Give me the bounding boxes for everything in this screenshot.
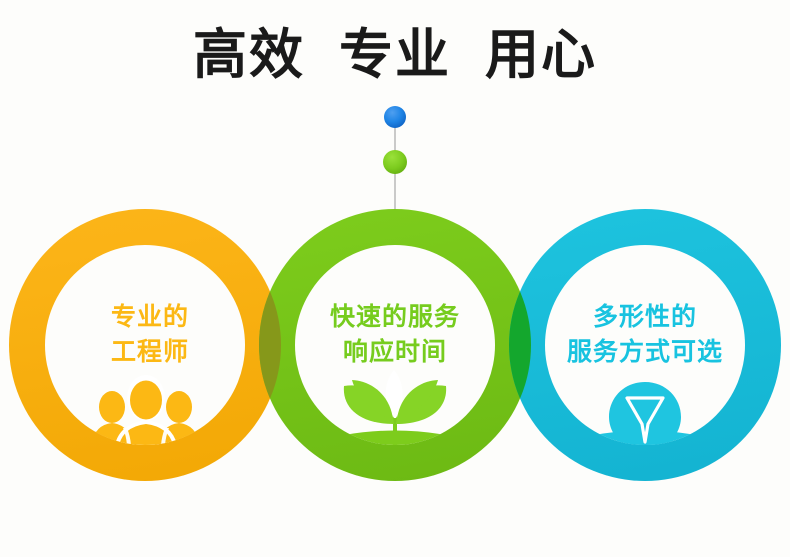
circle-orange-label-line2: 工程师 (40, 335, 260, 370)
circle-blue-label-line1: 多形性的 (520, 300, 770, 335)
circle-blue-label-line2: 服务方式可选 (520, 335, 770, 370)
circle-green-label-line2: 响应时间 (285, 335, 505, 370)
circle-orange-label: 专业的 工程师 (40, 300, 260, 369)
circle-blue-label: 多形性的 服务方式可选 (520, 300, 770, 369)
circle-green-label: 快速的服务 响应时间 (285, 300, 505, 369)
circle-orange-label-line1: 专业的 (40, 300, 260, 335)
poster-canvas: 高效专业用心 (0, 0, 790, 557)
green-blue-overlap (0, 0, 790, 557)
venn-rings-group (0, 0, 790, 557)
circle-green-label-line1: 快速的服务 (285, 300, 505, 335)
